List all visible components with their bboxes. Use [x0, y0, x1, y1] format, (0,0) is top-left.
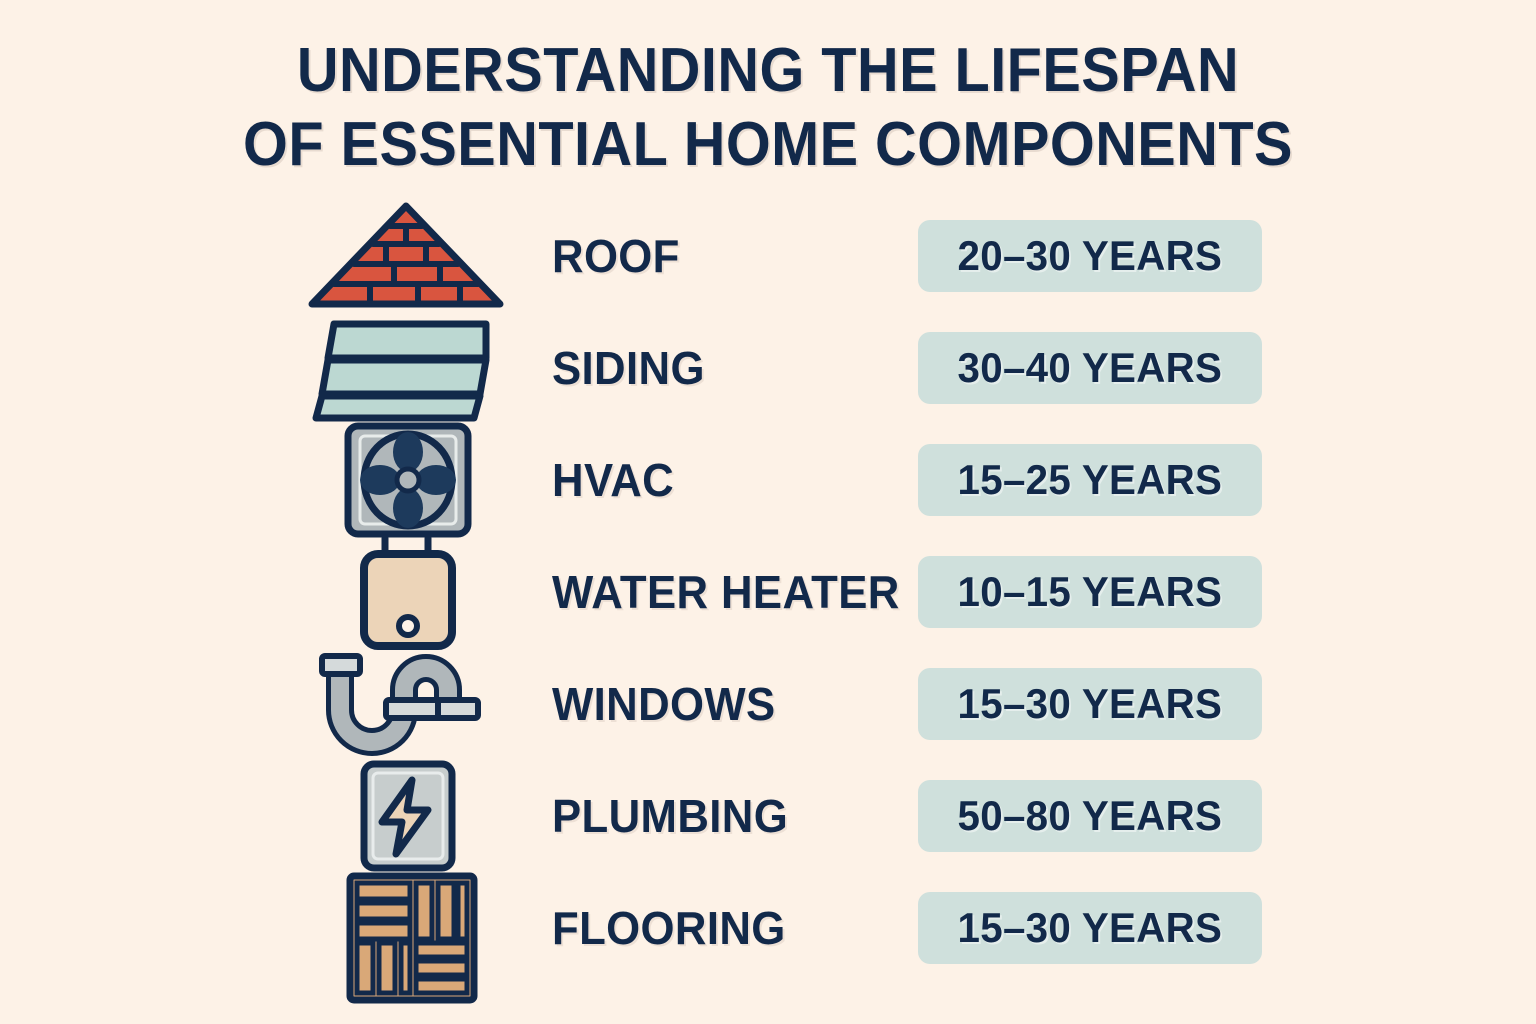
lifespan-value: 15–30 YEARS: [958, 904, 1223, 952]
component-label: SIDING: [552, 312, 705, 424]
list-item: ROOF 20–30 YEARS: [0, 200, 1536, 312]
component-label: PLUMBING: [552, 760, 788, 872]
list-item: HVAC 15–25 YEARS: [0, 424, 1536, 536]
component-label: WINDOWS: [552, 648, 776, 760]
lifespan-badge: 30–40 YEARS: [918, 332, 1262, 404]
lifespan-value: 15–25 YEARS: [958, 456, 1223, 504]
lifespan-value: 50–80 YEARS: [958, 792, 1223, 840]
infographic-canvas: UNDERSTANDING THE LIFESPAN OF ESSENTIAL …: [0, 0, 1536, 1024]
parquet-floor-icon: [300, 872, 515, 984]
component-label: HVAC: [552, 424, 674, 536]
list-item: WINDOWS 15–30 YEARS: [0, 648, 1536, 760]
lifespan-value: 30–40 YEARS: [958, 344, 1223, 392]
lifespan-badge: 20–30 YEARS: [918, 220, 1262, 292]
title-line-2: OF ESSENTIAL HOME COMPONENTS: [54, 108, 1482, 182]
hvac-fan-icon: [300, 424, 515, 536]
page-title: UNDERSTANDING THE LIFESPAN OF ESSENTIAL …: [0, 34, 1536, 182]
lifespan-value: 15–30 YEARS: [958, 680, 1223, 728]
lifespan-value: 10–15 YEARS: [958, 568, 1223, 616]
lifespan-value: 20–30 YEARS: [958, 232, 1223, 280]
component-list: ROOF 20–30 YEARS SIDING 30–40 YEARS: [0, 200, 1536, 984]
lifespan-badge: 50–80 YEARS: [918, 780, 1262, 852]
water-heater-tank-icon: [300, 536, 515, 648]
roof-brick-icon: [300, 200, 515, 312]
list-item: PLUMBING 50–80 YEARS: [0, 760, 1536, 872]
component-label: FLOORING: [552, 872, 786, 984]
electrical-bolt-icon: [300, 760, 515, 872]
lifespan-badge: 15–30 YEARS: [918, 892, 1262, 964]
list-item: SIDING 30–40 YEARS: [0, 312, 1536, 424]
lifespan-badge: 15–30 YEARS: [918, 668, 1262, 740]
lifespan-badge: 10–15 YEARS: [918, 556, 1262, 628]
component-label: ROOF: [552, 200, 680, 312]
lifespan-badge: 15–25 YEARS: [918, 444, 1262, 516]
pipe-trap-icon: [300, 648, 515, 760]
siding-boards-icon: [300, 312, 515, 424]
list-item: FLOORING 15–30 YEARS: [0, 872, 1536, 984]
list-item: WATER HEATER 10–15 YEARS: [0, 536, 1536, 648]
component-label: WATER HEATER: [552, 536, 900, 648]
title-line-1: UNDERSTANDING THE LIFESPAN: [54, 34, 1482, 108]
